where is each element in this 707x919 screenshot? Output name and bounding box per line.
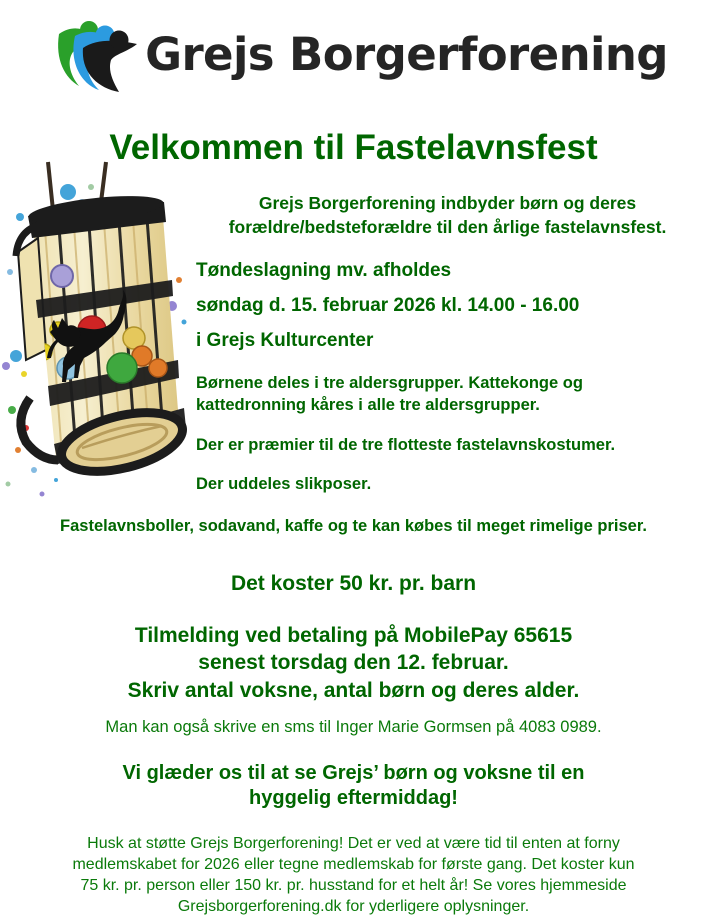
signup-block: Tilmelding ved betaling på MobilePay 656… [0, 622, 707, 704]
signup-mobilepay: Tilmelding ved betaling på MobilePay 656… [0, 622, 707, 649]
closing-line-1: Vi glæder os til at se Grejs’ børn og vo… [0, 761, 707, 786]
event-details: Tøndeslagning mv. afholdes søndag d. 15.… [196, 261, 699, 350]
three-people-logo-icon [53, 14, 149, 94]
event-datetime: søndag d. 15. februar 2026 kl. 14.00 - 1… [196, 296, 699, 315]
rule-costume-prizes: Der er præmier til de tre flotteste fast… [196, 434, 699, 456]
rule-age-groups: Børnene deles i tre aldersgrupper. Katte… [196, 372, 699, 417]
signup-deadline: senest torsdag den 12. februar. [0, 649, 707, 676]
event-rules: Børnene deles i tre aldersgrupper. Katte… [196, 372, 699, 495]
intro-paragraph: Grejs Borgerforening indbyder børn og de… [196, 191, 699, 239]
signup-instructions: Skriv antal voksne, antal børn og deres … [0, 677, 707, 704]
closing-greeting: Vi glæder os til at se Grejs’ børn og vo… [0, 761, 707, 811]
membership-line-2: medlemskabet for 2026 eller tegne medlem… [72, 856, 604, 873]
poster-content: Grejs Borgerforening indbyder børn og de… [0, 191, 707, 918]
sms-contact-note: Man kan også skrive en sms til Inger Mar… [0, 718, 707, 737]
closing-line-2: hyggelig eftermiddag! [0, 786, 707, 811]
rule-age-groups-line-1: Børnene deles i tre aldersgrupper. Katte… [196, 372, 699, 394]
rule-candy-bags: Der uddeles slikposer. [196, 473, 699, 495]
event-location: i Grejs Kulturcenter [196, 331, 699, 350]
membership-note: Husk at støtte Grejs Borgerforening! Det… [0, 833, 707, 917]
intro-line-2: forældre/bedsteforældre til den årlige f… [196, 215, 699, 239]
org-name-wordmark: Grejs Borgerforening [145, 32, 668, 77]
logo-lockup: Grejs Borgerforening [53, 14, 668, 94]
membership-line-1: Husk at støtte Grejs Borgerforening! Det… [87, 835, 620, 852]
price-line: Det koster 50 kr. pr. barn [0, 572, 707, 596]
page-title: Velkommen til Fastelavnsfest [0, 130, 707, 167]
header-logo-band: Grejs Borgerforening [0, 0, 707, 108]
refreshments-note: Fastelavnsboller, sodavand, kaffe og te … [0, 517, 707, 536]
intro-line-1: Grejs Borgerforening indbyder børn og de… [196, 191, 699, 215]
event-activity: Tøndeslagning mv. afholdes [196, 261, 699, 280]
rule-age-groups-line-2: kattedronning kåres i alle tre aldersgru… [196, 394, 699, 416]
